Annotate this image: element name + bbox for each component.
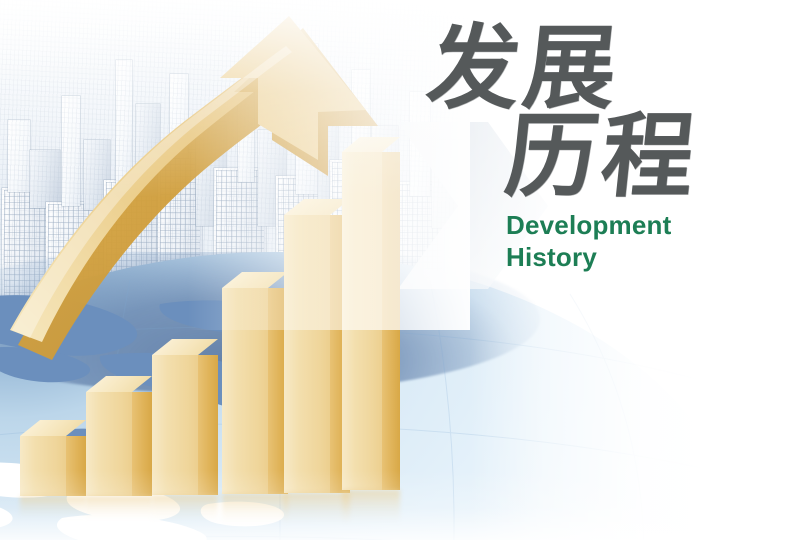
- bar-1: [20, 436, 86, 496]
- bar-side: [132, 392, 152, 496]
- bar-reflection: [152, 495, 218, 521]
- bar-top: [152, 339, 218, 355]
- cityscape-photo: [0, 0, 470, 330]
- english-title-line-2: History: [506, 242, 758, 274]
- cityscape-haze: [0, 0, 470, 330]
- bar-reflection: [342, 490, 400, 524]
- bar-reflection: [284, 493, 350, 525]
- bar-reflection: [222, 494, 288, 524]
- english-title: Development History: [506, 210, 758, 273]
- bar-2: [86, 392, 152, 496]
- bar-top: [20, 420, 86, 436]
- heading-block: 发展 历程 Development History: [428, 22, 758, 273]
- bar-side: [198, 355, 218, 495]
- english-title-line-1: Development: [506, 210, 758, 242]
- bar-side: [66, 436, 86, 496]
- development-history-banner: 发展 历程 Development History: [0, 0, 800, 540]
- chinese-title-line-2: 历程: [501, 110, 763, 202]
- bar-top: [86, 376, 152, 392]
- bar-reflection: [86, 496, 152, 520]
- chinese-title-line-1: 发展: [423, 22, 763, 114]
- bar-3: [152, 355, 218, 495]
- bar-reflection: [20, 496, 86, 518]
